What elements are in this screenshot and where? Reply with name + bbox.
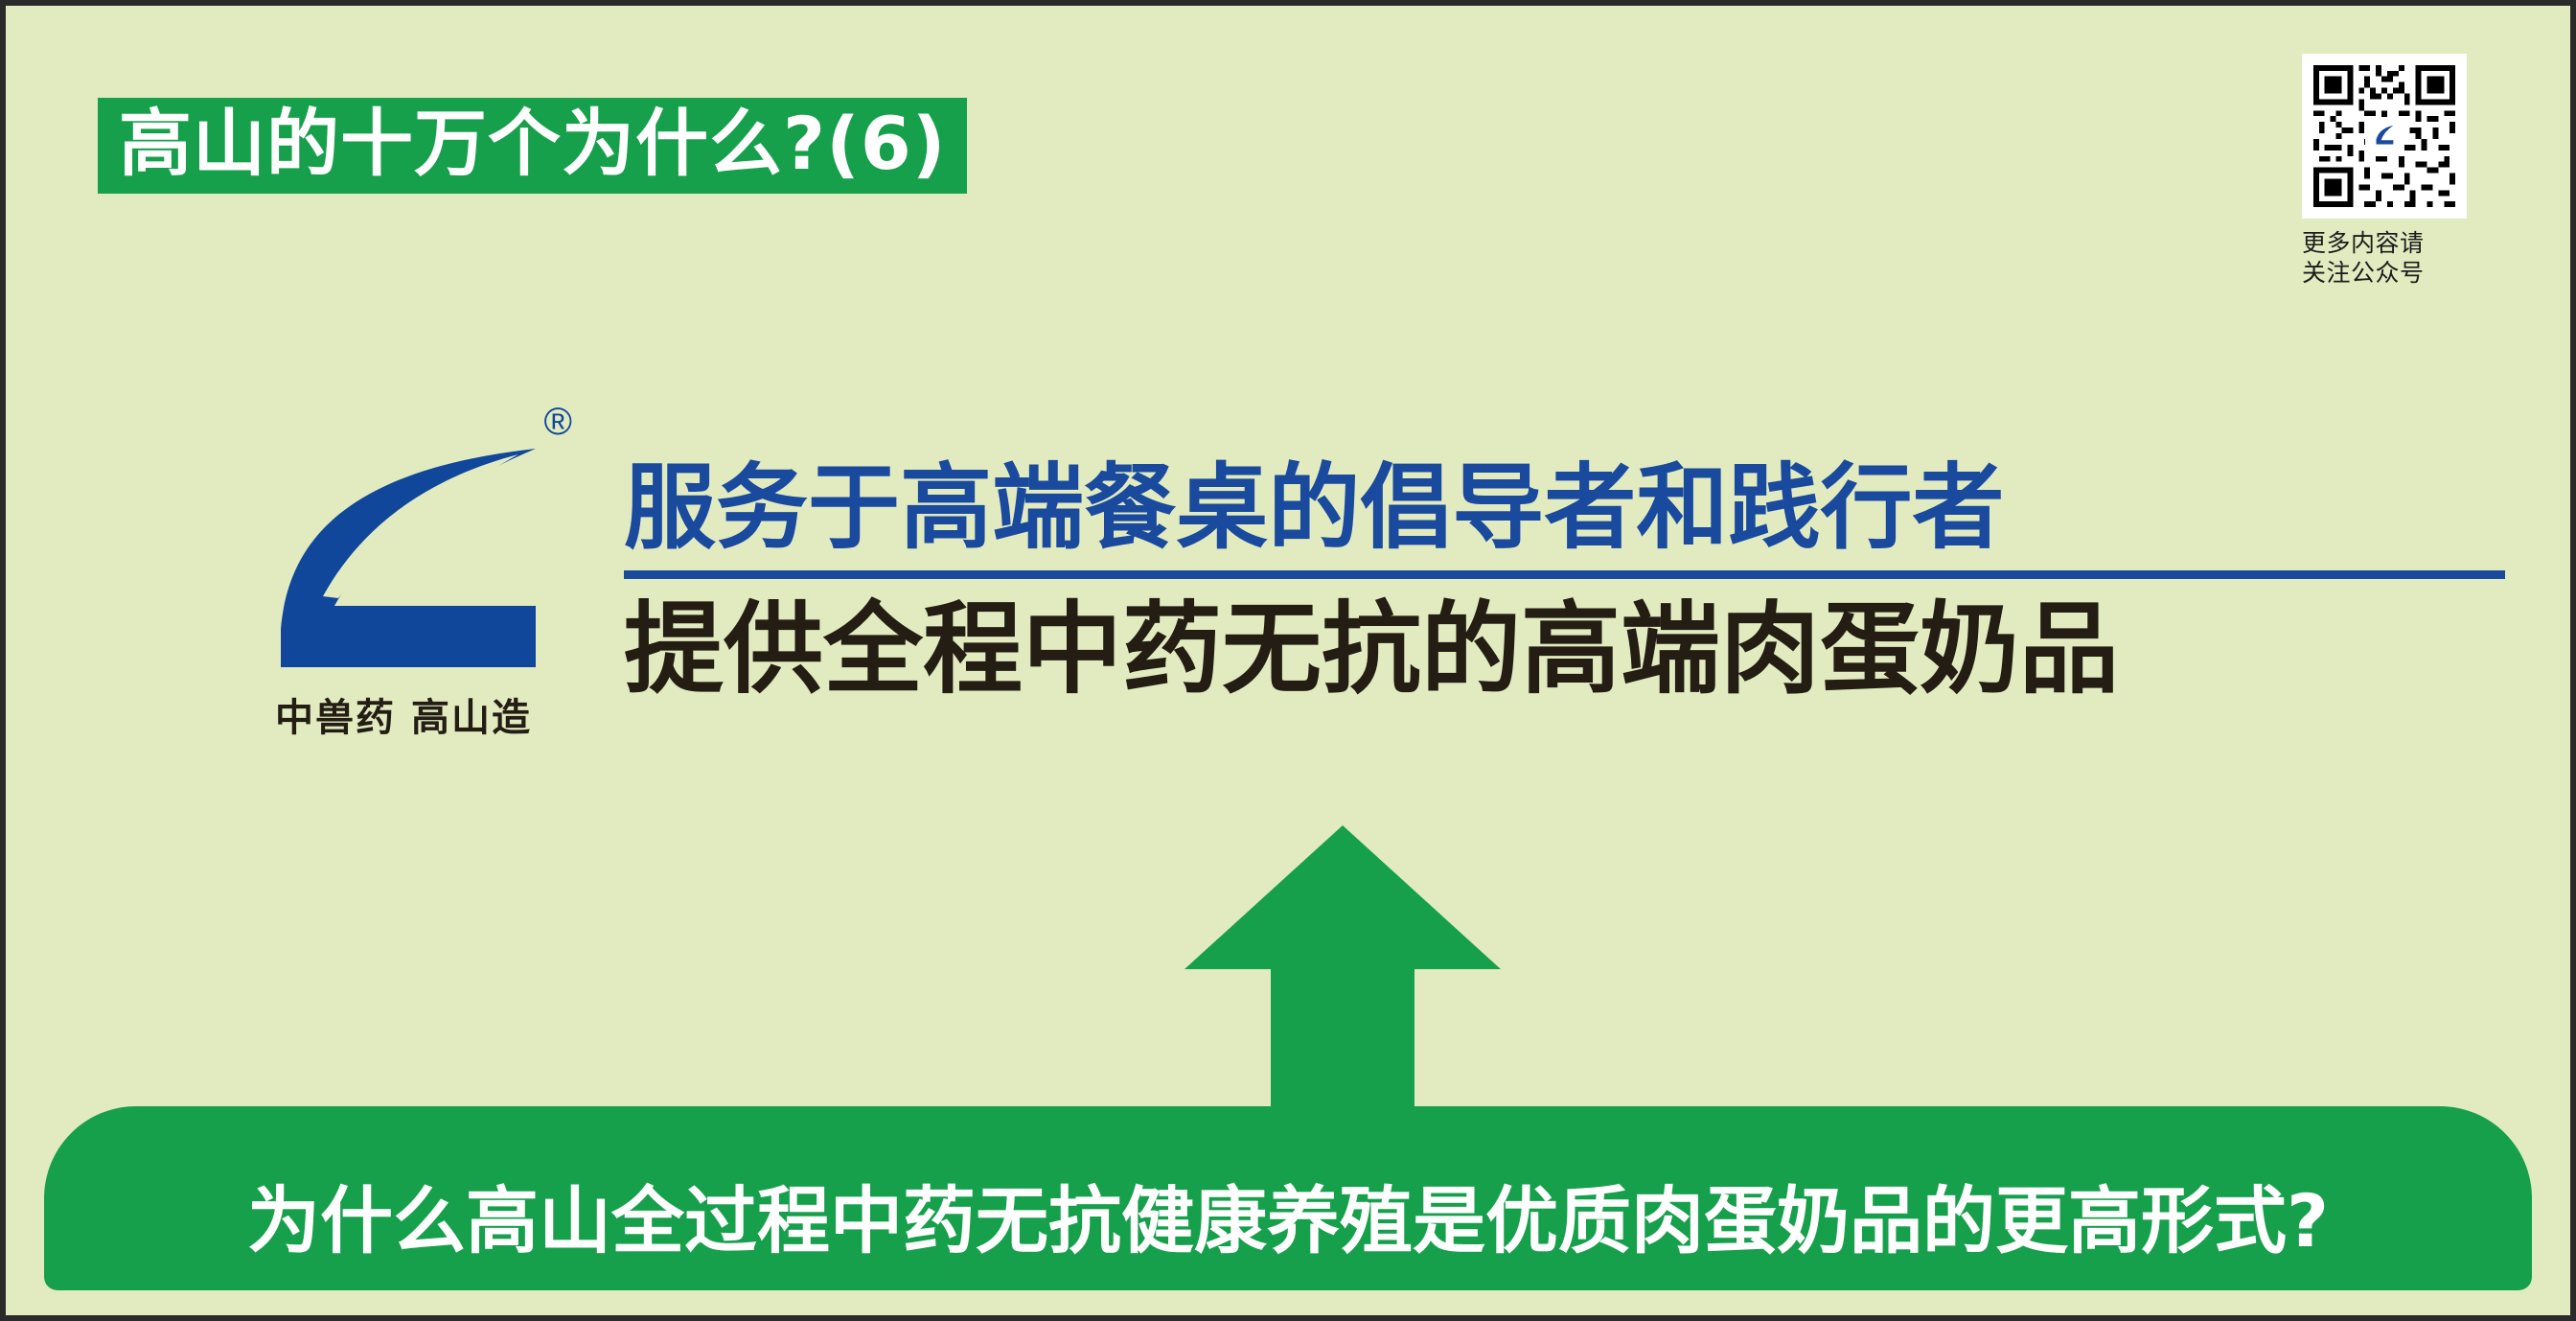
- qr-caption-line-1: 更多内容请: [2302, 228, 2467, 258]
- slogan-primary: 服务于高端餐桌的倡导者和践行者: [624, 456, 2486, 561]
- slogan-divider: [624, 570, 2505, 579]
- brand-name-label: 中兽药 高山造: [202, 686, 605, 742]
- qr-caption: 更多内容请 关注公众号: [2302, 228, 2467, 289]
- page-title-text: 高山的十万个为什么?(6): [98, 98, 967, 194]
- registered-trademark-mark: ®: [544, 403, 572, 441]
- poster-canvas: 高山的十万个为什么?(6): [0, 0, 2576, 1321]
- slogan-block: 服务于高端餐桌的倡导者和践行者 提供全程中药无抗的高端肉蛋奶品: [624, 389, 2505, 704]
- gaoshan-feather-logo-icon: ®: [231, 406, 576, 675]
- up-arrow-icon: [1184, 825, 1501, 1123]
- qr-code-image[interactable]: [2302, 54, 2467, 219]
- question-banner: 为什么高山全过程中药无抗健康养殖是优质肉蛋奶品的更高形式?: [44, 1106, 2532, 1290]
- brand-and-slogans: ® 中兽药 高山造 服务于高端餐桌的倡导者和践行者 提供全程中药无抗的高端肉蛋奶…: [6, 389, 2576, 742]
- slogan-secondary: 提供全程中药无抗的高端肉蛋奶品: [624, 594, 2505, 704]
- page-title: 高山的十万个为什么?(6): [98, 98, 1248, 213]
- qr-block: 更多内容请 关注公众号: [2302, 54, 2467, 289]
- qr-center-logo-icon: [2365, 117, 2403, 155]
- brand-logo-block: ® 中兽药 高山造: [202, 389, 605, 742]
- qr-caption-line-2: 关注公众号: [2302, 258, 2467, 288]
- question-banner-text: 为什么高山全过程中药无抗健康养殖是优质肉蛋奶品的更高形式?: [247, 1129, 2329, 1267]
